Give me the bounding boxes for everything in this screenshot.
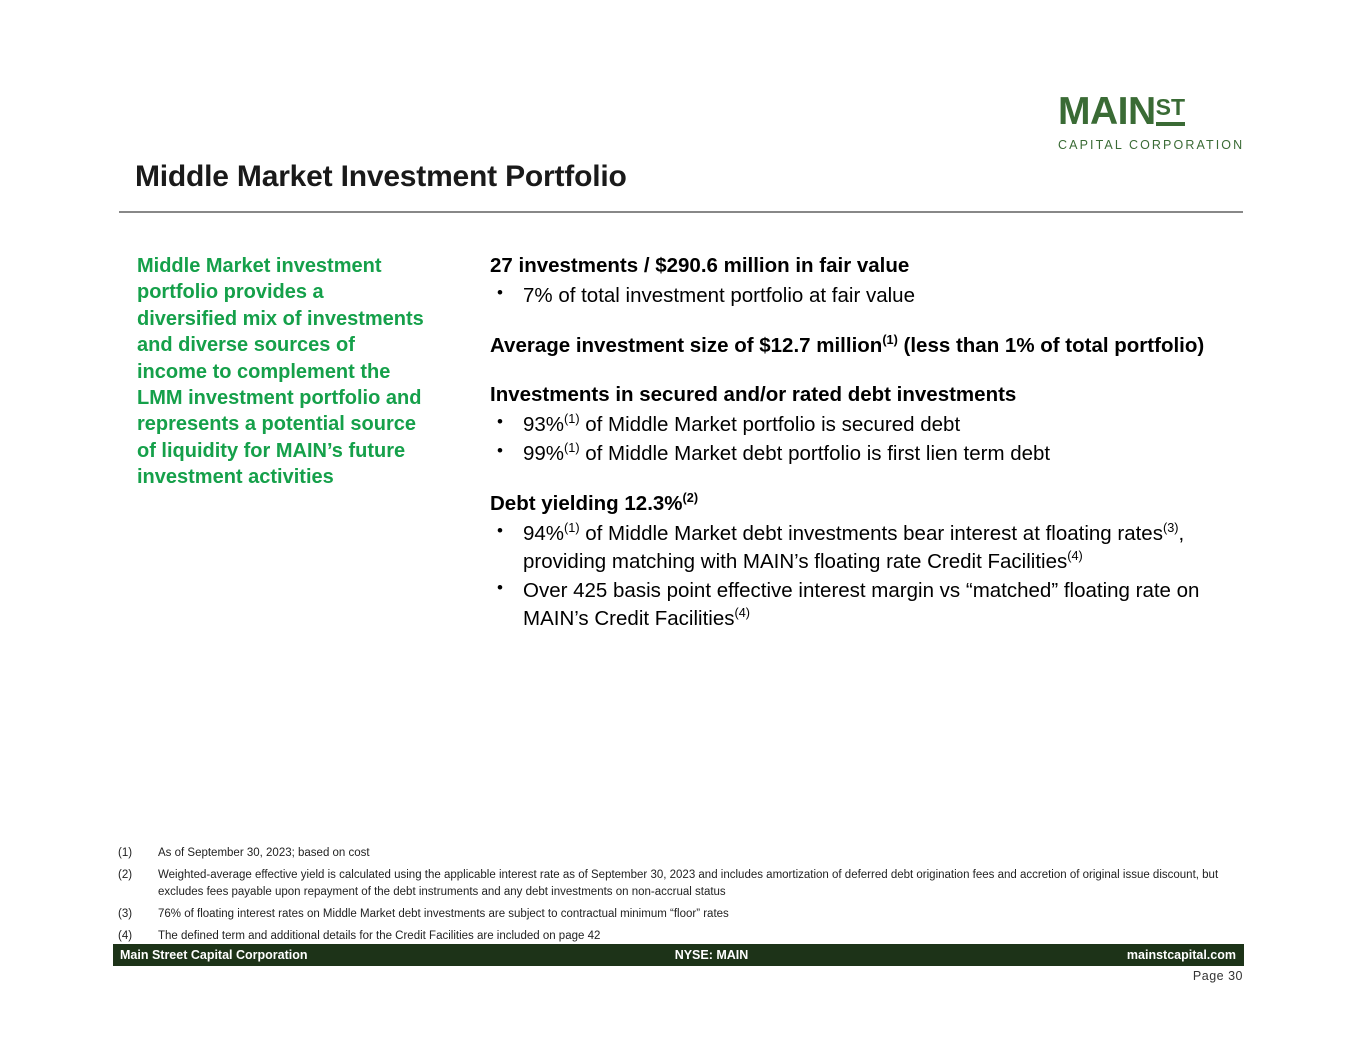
footnotes: (1) As of September 30, 2023; based on c…	[118, 845, 1248, 951]
footnote-text: 76% of floating interest rates on Middle…	[158, 906, 1248, 922]
bullet-item: 7% of total investment portfolio at fair…	[490, 282, 1235, 310]
page-title: Middle Market Investment Portfolio	[135, 160, 627, 194]
footnote-item: (2) Weighted-average effective yield is …	[118, 867, 1248, 900]
content-block: Average investment size of $12.7 million…	[490, 332, 1235, 360]
bullet-item: Over 425 basis point effective interest …	[490, 577, 1235, 633]
content-block: Investments in secured and/or rated debt…	[490, 381, 1235, 468]
block-heading: Debt yielding 12.3%(2)	[490, 490, 1235, 518]
footnote-number: (2)	[118, 867, 158, 900]
block-heading: 27 investments / $290.6 million in fair …	[490, 252, 1235, 280]
footnote-number: (1)	[118, 845, 158, 861]
logo-subtitle: CAPITAL CORPORATION	[1058, 138, 1238, 152]
bullet-list: 93%(1) of Middle Market portfolio is sec…	[490, 411, 1235, 468]
footnote-item: (4) The defined term and additional deta…	[118, 928, 1248, 944]
company-logo: MAINST CAPITAL CORPORATION	[1058, 92, 1238, 152]
footnote-number: (4)	[118, 928, 158, 944]
logo-wordmark: MAINST	[1058, 92, 1238, 131]
bullet-list: 94%(1) of Middle Market debt investments…	[490, 520, 1235, 633]
footer-website[interactable]: mainstcapital.com	[1127, 948, 1236, 962]
footnote-item: (1) As of September 30, 2023; based on c…	[118, 845, 1248, 861]
footer-ticker: NYSE: MAIN	[113, 948, 1244, 962]
content-block: Debt yielding 12.3%(2) 94%(1) of Middle …	[490, 490, 1235, 633]
content-block: 27 investments / $290.6 million in fair …	[490, 252, 1235, 310]
callout-text: Middle Market investment portfolio provi…	[137, 253, 427, 491]
footnote-number: (3)	[118, 906, 158, 922]
bullet-list: 7% of total investment portfolio at fair…	[490, 282, 1235, 310]
footnote-text: As of September 30, 2023; based on cost	[158, 845, 1248, 861]
logo-main-text: MAIN	[1058, 90, 1156, 133]
bullet-item: 99%(1) of Middle Market debt portfolio i…	[490, 440, 1235, 468]
title-divider	[119, 211, 1243, 213]
bullet-item: 93%(1) of Middle Market portfolio is sec…	[490, 411, 1235, 439]
footnote-text: Weighted-average effective yield is calc…	[158, 867, 1248, 900]
footnote-item: (3) 76% of floating interest rates on Mi…	[118, 906, 1248, 922]
bullet-item: 94%(1) of Middle Market debt investments…	[490, 520, 1235, 576]
block-heading: Investments in secured and/or rated debt…	[490, 381, 1235, 409]
footnote-text: The defined term and additional details …	[158, 928, 1248, 944]
footer-bar: Main Street Capital Corporation NYSE: MA…	[113, 944, 1244, 966]
block-heading: Average investment size of $12.7 million…	[490, 332, 1235, 360]
logo-st-text: ST	[1156, 94, 1185, 126]
page-number: Page 30	[1193, 969, 1243, 983]
content-column: 27 investments / $290.6 million in fair …	[490, 252, 1235, 633]
